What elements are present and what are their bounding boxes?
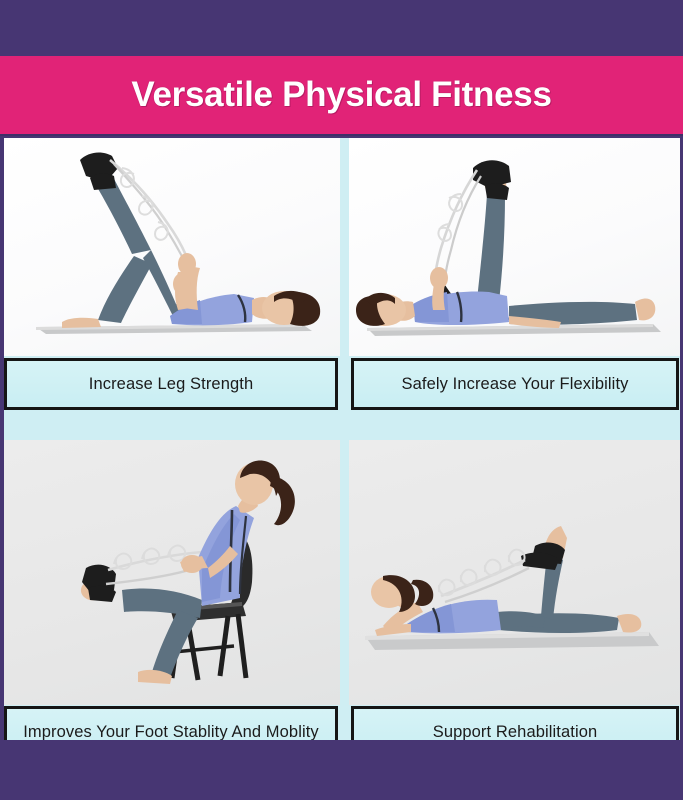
caption-text-2: Safely Increase Your Flexibility [402, 375, 629, 394]
panel-increase-leg-strength: Increase Leg Strength [2, 138, 340, 438]
title-banner: Versatile Physical Fitness [0, 56, 683, 136]
panel-photo-flexibility [349, 138, 681, 356]
illustration-prone-quad-stretch-with-strap [349, 440, 681, 705]
illustration-supine-bent-knee-stretch [2, 138, 340, 356]
panel-photo-foot-stability [2, 440, 340, 705]
panel-support-rehabilitation: Support Rehabilitation [349, 440, 681, 740]
left-purple-edge [0, 138, 4, 740]
product-infographic-poster: Versatile Physical Fitness [0, 0, 683, 800]
illustration-seated-chair-strap-pull [2, 440, 340, 705]
footer-purple-band [0, 740, 683, 800]
caption-box-1: Increase Leg Strength [4, 358, 338, 410]
panel-photo-leg-strength [2, 138, 340, 356]
caption-text-3: Improves Your Foot Stablity And Moblity [23, 723, 319, 741]
panel-improves-your-foot-stablity-and-moblity: Improves Your Foot Stablity And Moblity [2, 440, 340, 740]
caption-box-4: Support Rehabilitation [351, 706, 679, 740]
caption-text-1: Increase Leg Strength [89, 375, 253, 394]
panel-photo-rehabilitation [349, 440, 681, 705]
page-title: Versatile Physical Fitness [131, 75, 551, 115]
panel-grid: Increase Leg Strength [0, 138, 683, 740]
illustration-supine-straight-leg-raise [349, 138, 681, 356]
panel-safely-increase-your-flexibility: Safely Increase Your Flexibility [349, 138, 681, 438]
caption-text-4: Support Rehabilitation [433, 723, 598, 741]
caption-box-3: Improves Your Foot Stablity And Moblity [4, 706, 338, 740]
caption-box-2: Safely Increase Your Flexibility [351, 358, 679, 410]
header-purple-band [0, 0, 683, 56]
